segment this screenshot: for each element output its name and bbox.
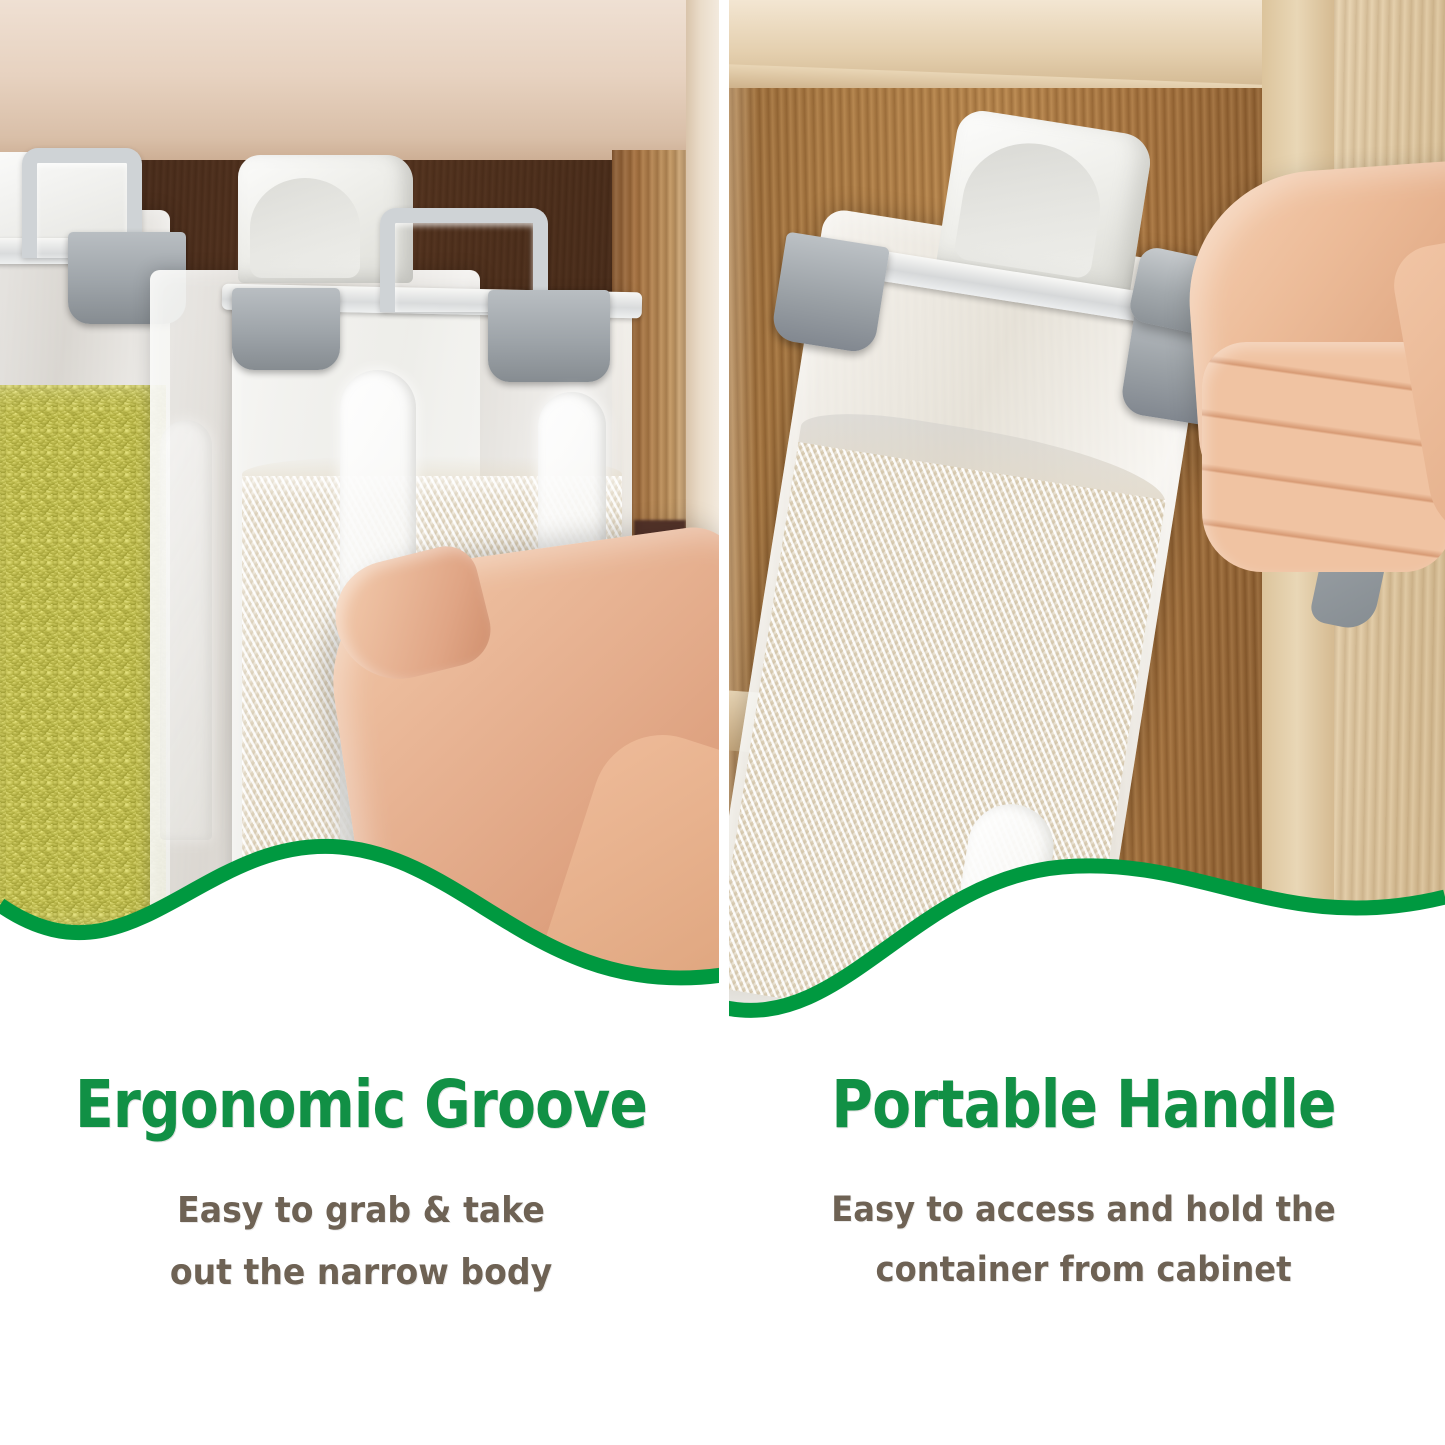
subline-ergonomic-groove: Easy to grab & take out the narrow body: [53, 1180, 669, 1304]
subline-line-1: Easy to access and hold the: [775, 1180, 1392, 1240]
photo-portable-handle: [722, 0, 1445, 1065]
grey-clip-middle: [232, 288, 340, 370]
cabinet-bumper-dot: [1278, 1016, 1334, 1065]
cabinet-top-surface: [0, 0, 722, 168]
grey-clip-left-right-panel: [770, 232, 890, 355]
subline-line-1: Easy to grab & take: [53, 1180, 669, 1242]
rice-grain-fill-right: [722, 442, 1166, 1045]
subline-line-2: container from cabinet: [775, 1240, 1392, 1300]
caption-block-left: Ergonomic Groove Easy to grab & take out…: [0, 1072, 722, 1304]
headline-ergonomic-groove: Ergonomic Groove: [73, 1072, 649, 1138]
ergonomic-groove-middle: [160, 420, 212, 840]
caption-block-right: Portable Handle Easy to access and hold …: [722, 1072, 1445, 1300]
panel-ergonomic-groove: Ergonomic Groove Easy to grab & take out…: [0, 0, 722, 1445]
subline-portable-handle: Easy to access and hold the container fr…: [775, 1180, 1392, 1300]
spout-lid-inner-middle: [250, 178, 360, 278]
headline-portable-handle: Portable Handle: [795, 1072, 1372, 1138]
mung-beans: [0, 385, 166, 933]
photo-ergonomic-groove: [0, 0, 722, 1065]
panel-divider: [719, 0, 729, 1060]
panel-portable-handle: Portable Handle Easy to access and hold …: [722, 0, 1445, 1445]
grey-clip-right: [488, 290, 610, 382]
product-infographic: Ergonomic Groove Easy to grab & take out…: [0, 0, 1445, 1445]
subline-line-2: out the narrow body: [53, 1242, 669, 1304]
